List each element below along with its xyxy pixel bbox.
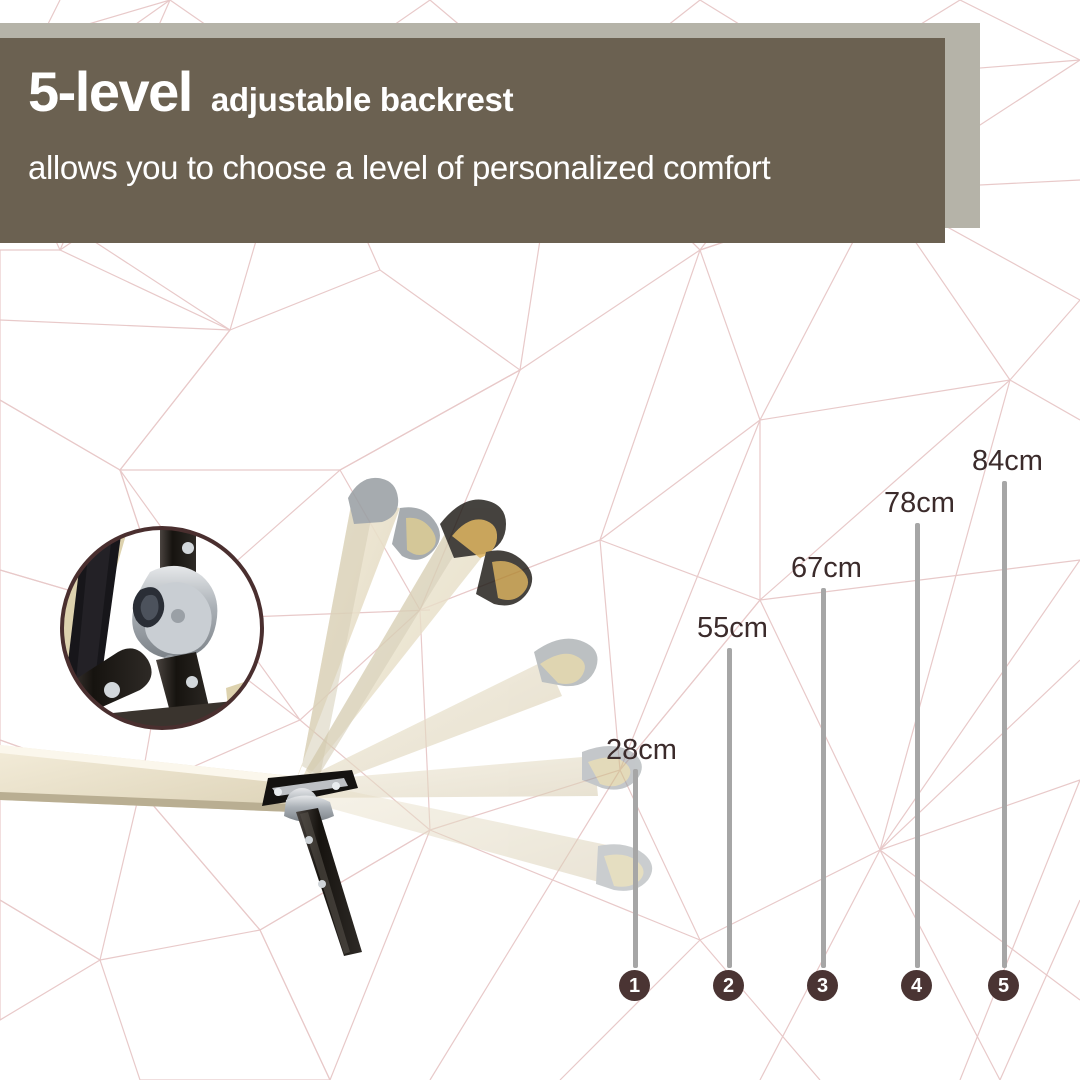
- measure-line-5: [1002, 481, 1007, 968]
- step-badge-5[interactable]: 5: [988, 970, 1019, 1001]
- step-badge-3[interactable]: 3: [807, 970, 838, 1001]
- measure-line-2: [727, 648, 732, 968]
- measure-label-3: 67cm: [791, 554, 862, 583]
- infographic-page: 5-level adjustable backrest allows you t…: [0, 0, 1080, 1080]
- measure-label-1: 28cm: [606, 736, 677, 765]
- measure-label-2: 55cm: [697, 614, 768, 643]
- measure-line-1: [633, 769, 638, 968]
- step-badge-4[interactable]: 4: [901, 970, 932, 1001]
- measurement-overlay: 28cm 1 55cm 2 67cm 3 78cm 4 84cm 5: [0, 0, 1080, 1080]
- measure-label-5: 84cm: [972, 447, 1043, 476]
- measure-line-3: [821, 588, 826, 968]
- step-badge-2[interactable]: 2: [713, 970, 744, 1001]
- measure-line-4: [915, 523, 920, 968]
- step-badge-1[interactable]: 1: [619, 970, 650, 1001]
- measure-label-4: 78cm: [884, 489, 955, 518]
